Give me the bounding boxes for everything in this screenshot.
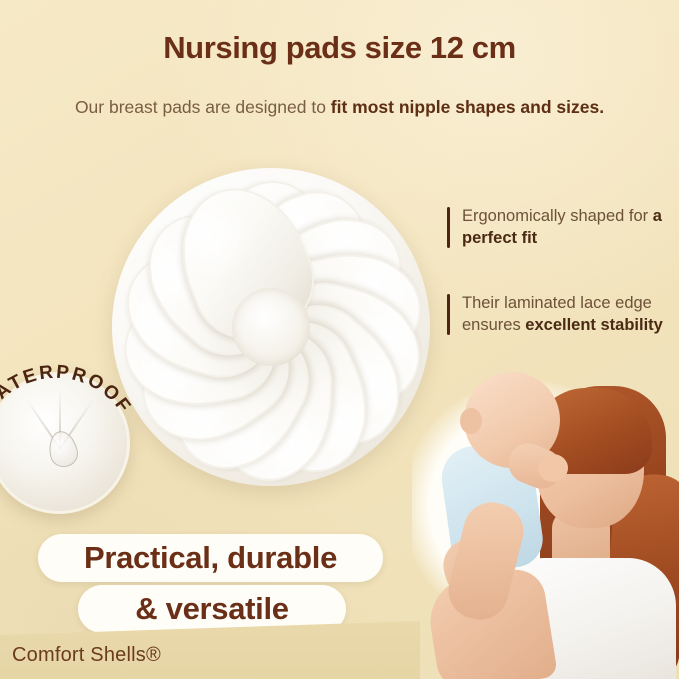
callout-1-text: Ergonomically shaped for a perfect fit — [462, 205, 677, 250]
lifestyle-photo-mother-baby — [412, 362, 679, 679]
svg-text:WATERPROOF: WATERPROOF — [0, 362, 136, 418]
pads-center-hub — [232, 288, 310, 366]
callout-lace-edge-stability: Their laminated lace edge ensures excell… — [447, 292, 679, 337]
tagline-pill-primary: Practical, durable — [38, 534, 383, 582]
subtitle-plain: Our breast pads are designed to — [75, 97, 331, 117]
infographic-canvas: Nursing pads size 12 cm Our breast pads … — [0, 0, 679, 679]
callout-ergonomic-fit: Ergonomically shaped for a perfect fit — [447, 205, 677, 250]
callout-2-bold: excellent stability — [525, 316, 663, 334]
baby-hand — [538, 454, 568, 482]
waterproof-arc-text: WATERPROOF — [0, 346, 150, 534]
baby-ear — [460, 408, 482, 434]
subtitle: Our breast pads are designed to fit most… — [58, 95, 621, 120]
page-title: Nursing pads size 12 cm — [0, 30, 679, 66]
callout-1-plain: Ergonomically shaped for — [462, 207, 653, 225]
brand-name: Comfort Shells® — [12, 644, 161, 667]
callout-2-text: Their laminated lace edge ensures excell… — [462, 292, 679, 337]
waterproof-badge: WATERPROOF — [0, 372, 124, 508]
subtitle-bold: fit most nipple shapes and sizes. — [331, 97, 604, 117]
product-photo-nursing-pads — [112, 168, 430, 486]
